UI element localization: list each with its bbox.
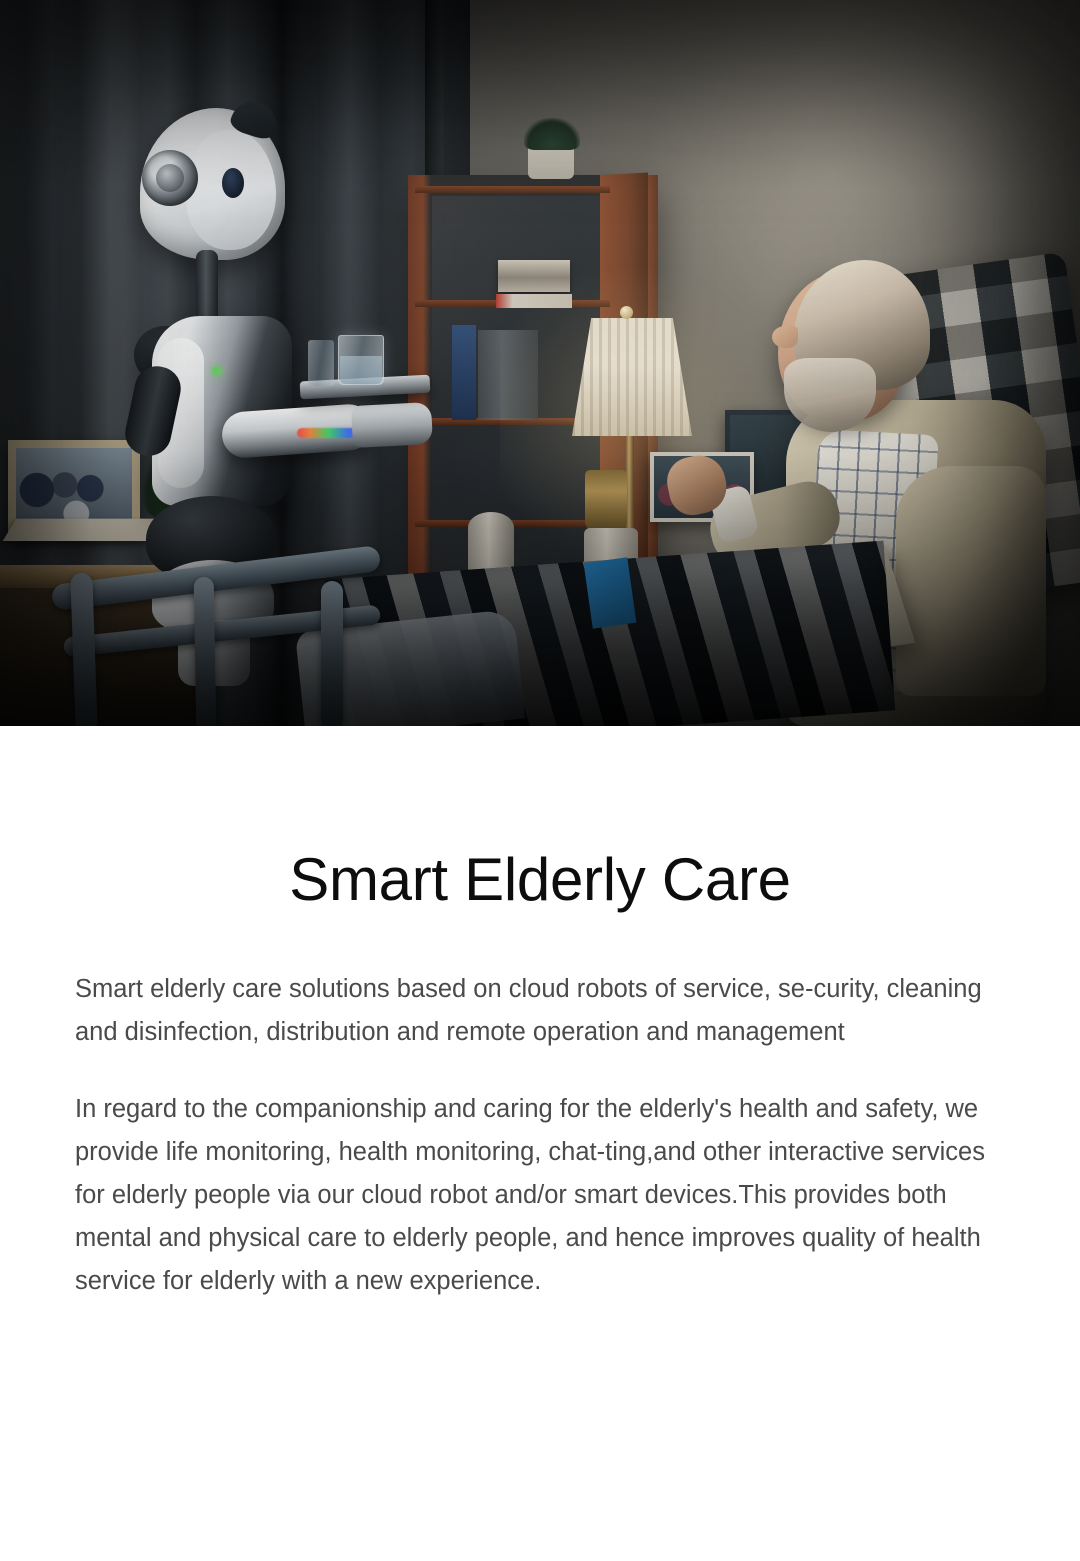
lamp-shade	[572, 318, 692, 436]
bottle-on-tray	[308, 340, 334, 386]
bookshelf-rail	[415, 186, 610, 193]
page-root: Smart Elderly Care Smart elderly care so…	[0, 0, 1080, 1561]
bed-rail-post	[194, 577, 217, 726]
robot-chest-status-led	[212, 366, 222, 376]
hospital-bed-rail	[45, 555, 375, 726]
shelf-books	[452, 325, 476, 420]
hero-photo	[0, 0, 1080, 726]
gold-vase	[585, 470, 627, 530]
shelf-books	[496, 294, 572, 308]
content-section: Smart Elderly Care Smart elderly care so…	[0, 726, 1080, 1303]
mans-right-arm	[896, 466, 1046, 696]
robot-eye	[222, 168, 244, 198]
lamp-finial	[620, 306, 633, 319]
mans-nose	[772, 326, 798, 348]
shelf-books	[498, 260, 570, 292]
blue-book-on-bed	[584, 557, 637, 628]
description-block: Smart elderly care solutions based on cl…	[0, 968, 1080, 1303]
potted-plant-leaves	[524, 118, 580, 150]
water-level	[340, 356, 382, 384]
description-paragraph-2: In regard to the companionship and carin…	[75, 1088, 1005, 1303]
bed-rail-post	[321, 581, 343, 726]
robot-ear-lens	[156, 164, 184, 192]
robot-hand	[351, 402, 433, 448]
page-title: Smart Elderly Care	[0, 848, 1080, 912]
shelf-books	[478, 330, 538, 420]
hero-scene	[0, 0, 1080, 726]
description-paragraph-1: Smart elderly care solutions based on cl…	[75, 968, 1005, 1054]
